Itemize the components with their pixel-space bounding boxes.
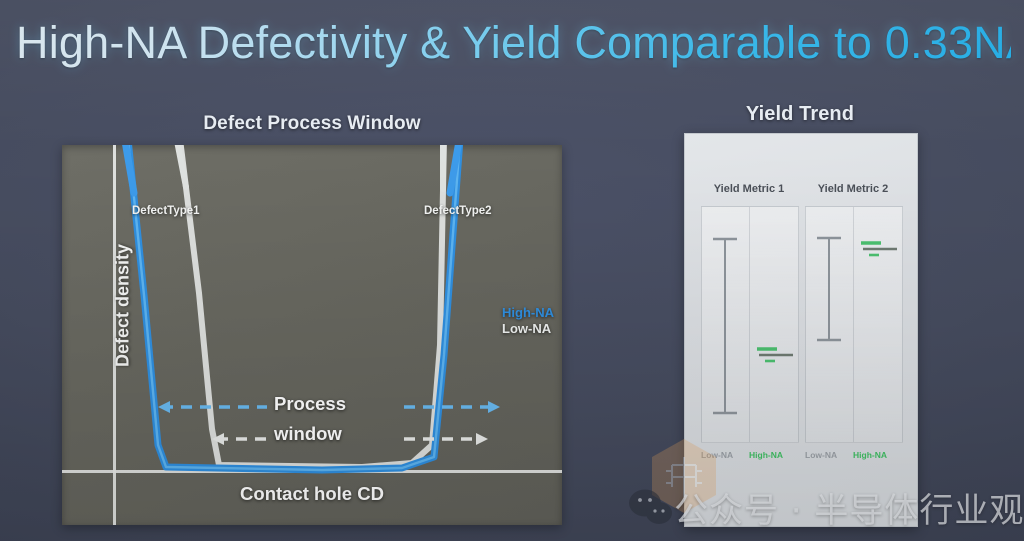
wechat-icon	[628, 487, 674, 527]
process-window-arrow-low-na	[212, 433, 488, 445]
defect-type-2-label: DefectType2	[424, 205, 492, 217]
xlabel-low-na-1: Low-NA	[701, 450, 733, 460]
low-na-error-bar-2	[817, 238, 841, 340]
defect-type-1-label: DefectType1	[132, 205, 200, 217]
yield-metric-2-markers	[805, 206, 901, 441]
yield-metric-2-panel: Yield Metric 2 Low-NA High-NA	[803, 184, 903, 476]
yield-metric-2-xlabels: Low-NA High-NA	[803, 450, 903, 464]
high-na-mean-marker-2	[861, 243, 897, 255]
high-na-curve-highlight	[128, 145, 460, 470]
process-window-label-line2: window	[274, 423, 342, 445]
yield-metric-1-xlabels: Low-NA High-NA	[699, 450, 799, 464]
page-title: High-NA Defectivity & Yield Comparable t…	[16, 14, 1011, 72]
xlabel-high-na-1: High-NA	[749, 450, 783, 460]
defect-process-window-chart: DefectType1 DefectType2 High-NA Low-NA P…	[62, 145, 562, 525]
yield-metric-1-markers	[701, 206, 797, 441]
yield-metric-1-title: Yield Metric 1	[693, 183, 805, 195]
process-window-label-line1: Process	[274, 393, 346, 415]
yield-trend-chart: Yield Metric 1 Low-NA High-NA	[684, 133, 918, 527]
xlabel-low-na-2: Low-NA	[805, 450, 837, 460]
yield-metric-2-title: Yield Metric 2	[797, 183, 909, 195]
x-axis-label: Contact hole CD	[62, 483, 562, 505]
slide-background: High-NA Defectivity & Yield Comparable t…	[0, 0, 1024, 541]
defect-curves	[62, 145, 562, 525]
low-na-curve	[180, 145, 444, 467]
xlabel-high-na-2: High-NA	[853, 450, 887, 460]
yield-metric-1-panel: Yield Metric 1 Low-NA High-NA	[699, 184, 799, 476]
high-na-curve	[128, 145, 460, 470]
defect-type-1-low-na-marker	[177, 145, 186, 187]
defect-process-window-heading: Defect Process Window	[62, 113, 562, 135]
legend-low-na: Low-NA	[502, 321, 551, 336]
legend-high-na: High-NA	[502, 305, 554, 320]
yield-trend-heading: Yield Trend	[684, 103, 916, 126]
high-na-mean-marker-1	[757, 349, 793, 361]
y-axis-label: Defect density	[113, 236, 134, 376]
low-na-error-bar-1	[713, 239, 737, 413]
